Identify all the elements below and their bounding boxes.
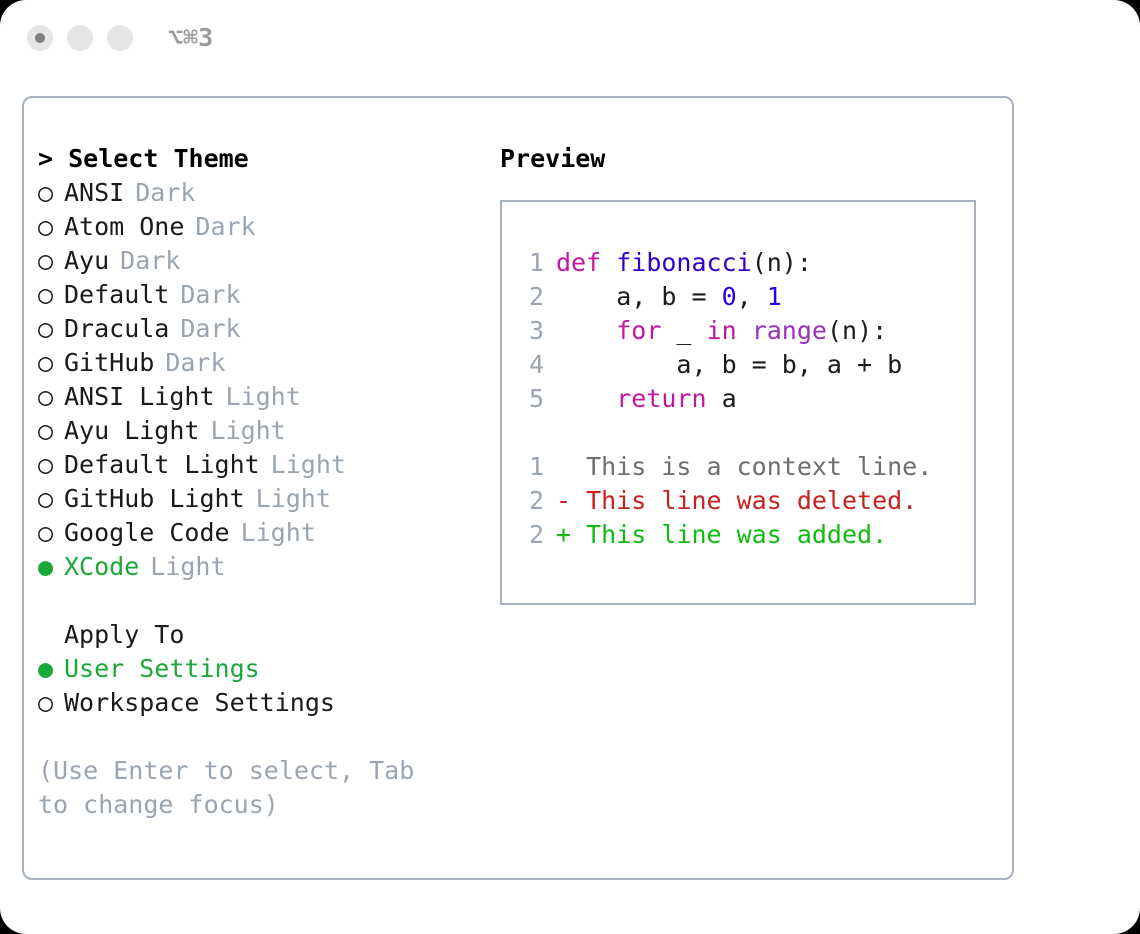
- preview-column: Preview 1def fibonacci(n):2 a, b = 0, 13…: [500, 142, 1000, 605]
- theme-item-label: XCode: [64, 550, 139, 584]
- token-diff-ctx: This is a context line.: [556, 452, 932, 481]
- theme-list-item[interactable]: ○DraculaDark: [38, 312, 493, 346]
- theme-list-item[interactable]: ○ANSIDark: [38, 176, 493, 210]
- theme-list-item[interactable]: ○DefaultDark: [38, 278, 493, 312]
- theme-list-item[interactable]: ○GitHub LightLight: [38, 482, 493, 516]
- theme-item-label: ANSI: [64, 176, 124, 210]
- theme-list-item[interactable]: ●XCodeLight: [38, 550, 493, 584]
- line-content: This is a context line.: [556, 450, 932, 484]
- theme-item-variant: Dark: [169, 278, 240, 312]
- code-diff-separator: [516, 416, 974, 450]
- window-dot-1[interactable]: [27, 25, 53, 51]
- select-theme-heading: > Select Theme: [38, 142, 493, 176]
- app-window: ⌥⌘3 > Select Theme ○ANSIDark○Atom OneDar…: [0, 0, 1140, 934]
- diff-line: 2+ This line was added.: [516, 518, 974, 552]
- theme-item-label: Google Code: [64, 516, 230, 550]
- code-line: 3 for _ in range(n):: [516, 314, 974, 348]
- line-content: a, b = 0, 1: [556, 280, 782, 314]
- theme-item-variant: Dark: [184, 210, 255, 244]
- code-line: 1def fibonacci(n):: [516, 246, 974, 280]
- keyboard-shortcut-label: ⌥⌘3: [168, 23, 213, 53]
- code-line: 5 return a: [516, 382, 974, 416]
- line-content: - This line was deleted.: [556, 484, 917, 518]
- token-plain: [556, 316, 616, 345]
- apply-to-list: ●User Settings○Workspace Settings: [38, 652, 493, 720]
- radio-unselected-icon: ○: [38, 176, 64, 210]
- code-sample: 1def fibonacci(n):2 a, b = 0, 13 for _ i…: [516, 246, 974, 416]
- theme-item-label: Ayu: [64, 244, 109, 278]
- token-kw: for: [616, 316, 661, 345]
- theme-list-item[interactable]: ○GitHubDark: [38, 346, 493, 380]
- line-content: a, b = b, a + b: [556, 348, 902, 382]
- token-plain: [601, 248, 616, 277]
- code-line: 4 a, b = b, a + b: [516, 348, 974, 382]
- radio-unselected-icon: ○: [38, 448, 64, 482]
- theme-list-item[interactable]: ○Google CodeLight: [38, 516, 493, 550]
- diff-line: 1 This is a context line.: [516, 450, 974, 484]
- theme-item-label: Default Light: [64, 448, 260, 482]
- window-dot-1-indicator: [35, 33, 45, 43]
- apply-to-item-label: Workspace Settings: [64, 686, 335, 720]
- theme-item-variant: Dark: [124, 176, 195, 210]
- theme-item-label: Ayu Light: [64, 414, 199, 448]
- theme-list: ○ANSIDark○Atom OneDark○AyuDark○DefaultDa…: [38, 176, 493, 584]
- line-number: 1: [516, 450, 556, 484]
- radio-unselected-icon: ○: [38, 278, 64, 312]
- token-plain: _: [661, 316, 706, 345]
- diff-line: 2- This line was deleted.: [516, 484, 974, 518]
- token-plain: a: [707, 384, 737, 413]
- keyboard-hint-text: (Use Enter to select, Tab to change focu…: [38, 754, 448, 822]
- theme-item-label: GitHub Light: [64, 482, 245, 516]
- radio-selected-icon: ●: [38, 550, 64, 584]
- code-line: 2 a, b = 0, 1: [516, 280, 974, 314]
- theme-list-item[interactable]: ○ANSI LightLight: [38, 380, 493, 414]
- theme-item-variant: Light: [139, 550, 225, 584]
- theme-list-item[interactable]: ○Ayu LightLight: [38, 414, 493, 448]
- token-diff-del: - This line was deleted.: [556, 486, 917, 515]
- theme-list-item[interactable]: ○Atom OneDark: [38, 210, 493, 244]
- radio-unselected-icon: ○: [38, 414, 64, 448]
- radio-unselected-icon: ○: [38, 380, 64, 414]
- token-plain: ,: [737, 282, 767, 311]
- radio-unselected-icon: ○: [38, 482, 64, 516]
- theme-list-item[interactable]: ○Default LightLight: [38, 448, 493, 482]
- line-number: 4: [516, 348, 556, 382]
- token-num: 1: [767, 282, 782, 311]
- theme-item-variant: Light: [215, 380, 301, 414]
- apply-to-item-label: User Settings: [64, 652, 260, 686]
- token-plain: a, b =: [556, 282, 722, 311]
- theme-item-variant: Light: [245, 482, 331, 516]
- token-kw: in: [707, 316, 737, 345]
- title-bar: ⌥⌘3: [0, 0, 1140, 80]
- theme-item-label: Atom One: [64, 210, 184, 244]
- apply-to-heading: Apply To: [38, 618, 493, 652]
- theme-item-variant: Dark: [154, 346, 225, 380]
- line-content: for _ in range(n):: [556, 314, 887, 348]
- token-kw: return: [616, 384, 706, 413]
- theme-item-label: Default: [64, 278, 169, 312]
- theme-item-variant: Dark: [109, 244, 180, 278]
- theme-item-variant: Light: [199, 414, 285, 448]
- token-plain: [556, 384, 616, 413]
- radio-unselected-icon: ○: [38, 244, 64, 278]
- window-dot-2[interactable]: [67, 25, 93, 51]
- line-content: + This line was added.: [556, 518, 887, 552]
- token-fn: fibonacci: [616, 248, 751, 277]
- theme-selection-column: > Select Theme ○ANSIDark○Atom OneDark○Ay…: [38, 142, 493, 822]
- window-dot-3[interactable]: [107, 25, 133, 51]
- line-number: 5: [516, 382, 556, 416]
- token-diff-add: + This line was added.: [556, 520, 887, 549]
- main-panel: > Select Theme ○ANSIDark○Atom OneDark○Ay…: [22, 96, 1014, 880]
- theme-item-label: ANSI Light: [64, 380, 215, 414]
- token-plain: (n):: [827, 316, 887, 345]
- line-number: 3: [516, 314, 556, 348]
- radio-unselected-icon: ○: [38, 686, 64, 720]
- preview-box: 1def fibonacci(n):2 a, b = 0, 13 for _ i…: [500, 200, 976, 605]
- line-content: return a: [556, 382, 737, 416]
- hint-spacer: [38, 720, 493, 754]
- line-number: 1: [516, 246, 556, 280]
- radio-unselected-icon: ○: [38, 210, 64, 244]
- theme-item-variant: Light: [230, 516, 316, 550]
- line-number: 2: [516, 484, 556, 518]
- token-plain: (n):: [752, 248, 812, 277]
- theme-list-item[interactable]: ○AyuDark: [38, 244, 493, 278]
- line-number: 2: [516, 280, 556, 314]
- theme-item-variant: Dark: [169, 312, 240, 346]
- token-plain: [737, 316, 752, 345]
- radio-unselected-icon: ○: [38, 312, 64, 346]
- token-num: 0: [722, 282, 737, 311]
- list-spacer: [38, 584, 493, 618]
- diff-sample: 1 This is a context line.2- This line wa…: [516, 450, 974, 552]
- preview-heading: Preview: [500, 142, 1000, 176]
- token-plain: a, b = b, a + b: [556, 350, 902, 379]
- theme-item-label: Dracula: [64, 312, 169, 346]
- radio-unselected-icon: ○: [38, 346, 64, 380]
- token-builtin: range: [752, 316, 827, 345]
- line-content: def fibonacci(n):: [556, 246, 812, 280]
- radio-selected-icon: ●: [38, 652, 64, 686]
- theme-item-variant: Light: [260, 448, 346, 482]
- apply-to-item[interactable]: ●User Settings: [38, 652, 493, 686]
- theme-item-label: GitHub: [64, 346, 154, 380]
- line-number: 2: [516, 518, 556, 552]
- radio-unselected-icon: ○: [38, 516, 64, 550]
- apply-to-item[interactable]: ○Workspace Settings: [38, 686, 493, 720]
- token-kw: def: [556, 248, 601, 277]
